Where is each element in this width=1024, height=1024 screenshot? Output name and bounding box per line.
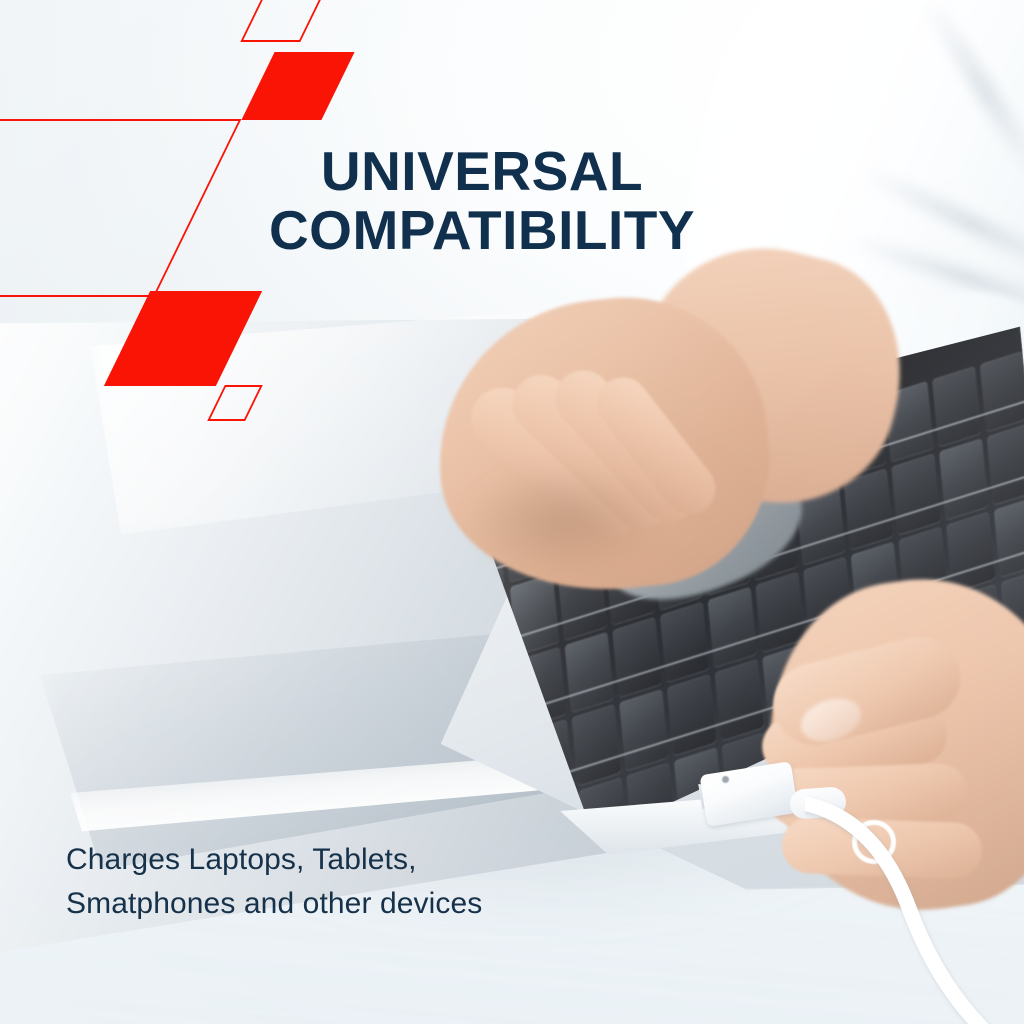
hand-shadow: [470, 470, 700, 600]
headline: UNIVERSAL COMPATIBILITY: [0, 142, 1024, 260]
connector-led-icon: [722, 776, 729, 783]
headline-line-1: UNIVERSAL: [0, 142, 964, 201]
headline-line-2: COMPATIBILITY: [0, 201, 964, 260]
charger-cable: [805, 790, 1024, 1024]
promo-poster: UNIVERSAL COMPATIBILITY Charges Laptops,…: [0, 0, 1024, 1024]
caption-text: Charges Laptops, Tablets, Smatphones and…: [66, 838, 536, 927]
